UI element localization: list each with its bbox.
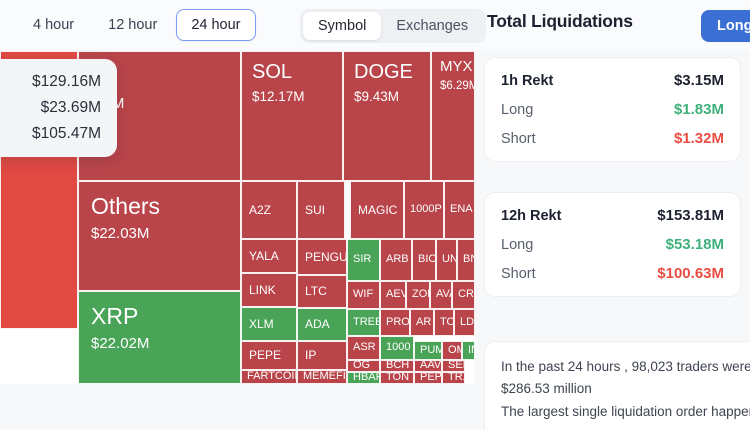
tile-symbol: SOL (252, 62, 342, 83)
note-line-3: The largest single liquidation order hap… (501, 401, 749, 423)
tile-symbol: FARTCOIN (247, 371, 296, 383)
treemap-tile-pump[interactable]: PUMP (414, 341, 442, 360)
tile-symbol: 1000P (410, 204, 443, 216)
treemap-tile-aevo[interactable]: AEVO (380, 281, 406, 309)
page-title: Total Liquidations (487, 11, 633, 32)
tile-symbol: BNB (463, 254, 474, 266)
stats-panel: 1h Rekt $3.15M Long $1.83M Short $1.32M … (475, 51, 750, 430)
time-tab-4-hour[interactable]: 4 hour (18, 9, 89, 41)
treemap-tooltip: on$129.16M$23.69M$105.47M (0, 59, 117, 157)
note-line-2: $286.53 million (501, 378, 749, 400)
treemap-tile-1000[interactable]: 1000 (380, 336, 414, 360)
tile-symbol: ENA (450, 204, 474, 216)
tile-symbol: 1000 (386, 342, 413, 354)
tile-symbol: SIR (353, 254, 379, 266)
tooltip-value: $23.69M (41, 99, 101, 117)
stat-total-value: $153.81M (657, 207, 724, 224)
time-tab-12-hour[interactable]: 12 hour (93, 9, 172, 41)
treemap-tile-sei[interactable]: SEI (442, 360, 465, 372)
tile-symbol: LDO (460, 317, 474, 329)
tile-symbol: SEI (448, 360, 464, 372)
stat-long-label: Long (501, 102, 533, 118)
treemap-tile-pepe[interactable]: PEPE (241, 341, 297, 370)
treemap-tile-1000p[interactable]: 1000P (404, 181, 444, 239)
treemap-tile-om[interactable]: OM (442, 341, 462, 360)
treemap-tile-ar[interactable]: AR (410, 309, 434, 336)
stat-short-value: $100.63M (657, 265, 724, 282)
tile-symbol: MEMEFI (303, 371, 346, 383)
stat-long-row: Long $1.83M (501, 101, 724, 118)
stat-card-12h[interactable]: 12h Rekt $153.81M Long $53.18M Short $10… (484, 192, 741, 297)
tile-symbol: PEPE (249, 349, 296, 362)
treemap-tile-xrp[interactable]: XRP$22.02M (78, 291, 241, 384)
tile-symbol: UNI (442, 254, 456, 266)
treemap-tile-og[interactable]: OG (347, 360, 380, 372)
treemap-tile-bnb[interactable]: BNB (457, 239, 475, 281)
tile-symbol: AR (416, 317, 433, 329)
treemap-tile-doge[interactable]: DOGE$9.43M (343, 51, 431, 181)
treemap-tile-memefi[interactable]: MEMEFI (297, 370, 347, 384)
treemap-tile-ldo[interactable]: LDO (454, 309, 475, 336)
treemap-tile-uni[interactable]: UNI (436, 239, 457, 281)
treemap-tile-avax[interactable]: AVAX (430, 281, 452, 309)
treemap-tile-inj[interactable]: INJ (462, 341, 475, 360)
treemap-tile-yala[interactable]: YALA (241, 239, 297, 273)
stat-short-value: $1.32M (674, 130, 724, 147)
stat-long-value: $1.83M (674, 101, 724, 118)
tile-symbol: ASR (353, 342, 379, 354)
tile-symbol: AEVO (386, 289, 405, 301)
tile-symbol: MYX (440, 59, 474, 75)
treemap-tile-a2z[interactable]: A2Z (241, 181, 297, 239)
treemap-tile-pengu[interactable]: PENGU (297, 239, 347, 275)
treemap-tile-ton[interactable]: TON (434, 309, 454, 336)
treemap-tile-xlm[interactable]: XLM (241, 307, 297, 341)
liquidation-dashboard: 4 hour12 hour24 hour SymbolExchanges Tot… (0, 0, 750, 430)
treemap-tile-aave[interactable]: AAVE (414, 360, 442, 372)
note-line-1: In the past 24 hours , 98,023 traders we… (501, 356, 749, 378)
tile-symbol: PUMP (420, 345, 441, 357)
tile-symbol: SUI (305, 204, 344, 217)
tile-symbol: TON (386, 372, 413, 384)
stat-short-row: Short $1.32M (501, 130, 724, 147)
tile-symbol: AAVE (420, 360, 441, 372)
treemap-tile-hbar[interactable]: HBAR (347, 372, 380, 384)
treemap-tile-others[interactable]: Others$22.03M (78, 181, 241, 291)
treemap-tile-ena[interactable]: ENA (444, 181, 475, 239)
tile-symbol: DOGE (354, 62, 430, 83)
treemap-tile-prove[interactable]: PROVE (380, 309, 410, 336)
tile-symbol: PEPE (420, 372, 441, 384)
tooltip-row: $105.47M (0, 125, 101, 143)
treemap-tile-bio[interactable]: BIO (412, 239, 436, 281)
tile-symbol: TRX (448, 372, 464, 384)
tooltip-value: $129.16M (32, 73, 101, 91)
treemap-tile-ton[interactable]: TON (380, 372, 414, 384)
treemap-tile-ip[interactable]: IP (297, 341, 347, 370)
tile-symbol: XRP (91, 304, 240, 328)
treemap-tile-ltc[interactable]: LTC (297, 275, 347, 308)
tile-symbol: XLM (249, 318, 296, 331)
tile-symbol: HBAR (353, 372, 379, 384)
tile-symbol: Others (91, 194, 240, 218)
treemap-tile-bch[interactable]: BCH (380, 360, 414, 372)
stat-title: 12h Rekt (501, 208, 561, 224)
tile-symbol: ADA (305, 318, 346, 331)
tile-symbol: PENGU (305, 251, 346, 264)
stat-long-label: Long (501, 237, 533, 253)
tile-symbol: A2Z (249, 204, 296, 217)
treemap-tile-magic[interactable]: MAGIC (350, 181, 404, 239)
summary-note-card: In the past 24 hours , 98,023 traders we… (484, 341, 750, 430)
tile-symbol: OG (353, 360, 379, 372)
tile-symbol: BCH (386, 360, 413, 372)
tile-value: $9.43M (354, 90, 430, 105)
treemap-tile-link[interactable]: LINK (241, 273, 297, 307)
tile-symbol: TON (440, 317, 453, 329)
tile-value: $22.03M (91, 226, 240, 243)
stat-long-value: $53.18M (666, 236, 724, 253)
tooltip-row: $23.69M (0, 99, 101, 117)
tile-symbol: ARB (386, 254, 411, 266)
stat-total-row: 1h Rekt $3.15M (501, 72, 724, 89)
tile-value: $12.17M (252, 90, 342, 105)
tile-value: $6.29M (440, 80, 474, 93)
view-toggle-exchanges[interactable]: Exchanges (381, 12, 483, 40)
treemap-tile-myx[interactable]: MYX$6.29M (431, 51, 475, 181)
treemap-tile-wif[interactable]: WIF (347, 281, 380, 309)
treemap-tile-sui[interactable]: SUI (297, 181, 345, 239)
tile-symbol: ZORA (412, 289, 429, 301)
treemap-tile-crv[interactable]: CRV (452, 281, 475, 309)
stat-short-label: Short (501, 266, 536, 282)
tile-value: $22.02M (91, 336, 240, 353)
time-range-tabs: 4 hour12 hour24 hour (18, 9, 256, 41)
treemap-tile-sir[interactable]: SIR (347, 239, 380, 281)
tile-symbol: INJ (468, 345, 474, 357)
treemap-tile-arb[interactable]: ARB (380, 239, 412, 281)
view-toggle-symbol[interactable]: Symbol (303, 12, 381, 40)
tile-symbol: LTC (305, 285, 346, 298)
tile-symbol: CRV (458, 289, 474, 301)
tooltip-row: on$129.16M (0, 73, 101, 91)
stat-short-row: Short $100.63M (501, 265, 724, 282)
stat-total-value: $3.15M (674, 72, 724, 89)
tooltip-value: $105.47M (32, 125, 101, 143)
tile-symbol: WIF (353, 289, 379, 301)
tile-symbol: LINK (249, 284, 296, 297)
treemap-tile-trx[interactable]: TRX (442, 372, 465, 384)
tile-symbol: YALA (249, 250, 296, 263)
treemap-tile-pepe[interactable]: PEPE (414, 372, 442, 384)
tile-symbol: MAGIC (358, 204, 403, 217)
tile-symbol: OM (448, 345, 461, 357)
treemap-tile-zora[interactable]: ZORA (406, 281, 430, 309)
tile-symbol: IP (305, 349, 346, 362)
view-mode-toggle: SymbolExchanges (300, 9, 486, 43)
treemap-tile-sol[interactable]: SOL$12.17M (241, 51, 343, 181)
tile-symbol: TREE (353, 317, 379, 329)
time-tab-24-hour[interactable]: 24 hour (176, 9, 255, 41)
treemap-tile-asr[interactable]: ASR (347, 336, 380, 360)
stat-total-row: 12h Rekt $153.81M (501, 207, 724, 224)
treemap-tile-ada[interactable]: ADA (297, 308, 347, 341)
stat-title: 1h Rekt (501, 73, 553, 89)
tile-symbol: AVAX (436, 289, 451, 301)
long-side-button[interactable]: Long (701, 10, 750, 42)
stat-long-row: Long $53.18M (501, 236, 724, 253)
tile-symbol: BIO (418, 254, 435, 266)
stat-card-1h[interactable]: 1h Rekt $3.15M Long $1.83M Short $1.32M (484, 57, 741, 162)
treemap-tile-fartcoin[interactable]: FARTCOIN (241, 370, 297, 384)
tile-symbol: PROVE (386, 317, 409, 329)
treemap-tile-tree[interactable]: TREE (347, 309, 380, 336)
stat-short-label: Short (501, 131, 536, 147)
